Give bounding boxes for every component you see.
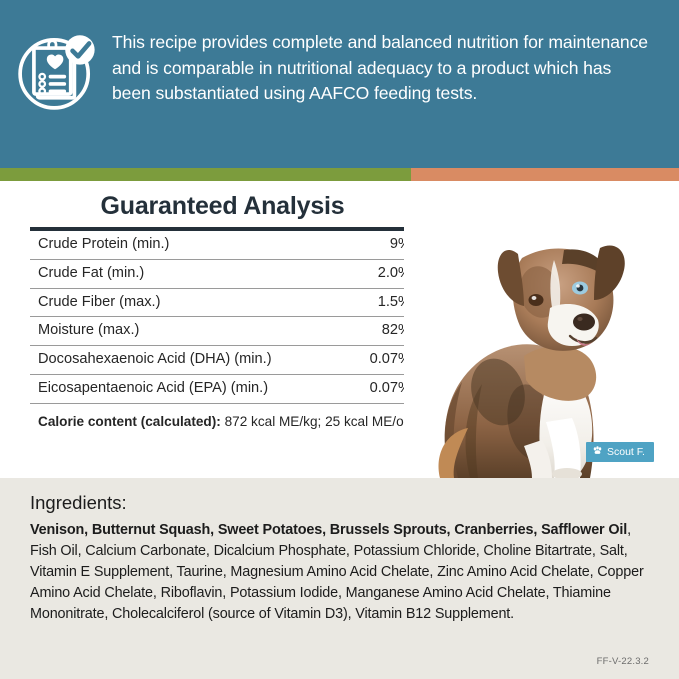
calorie-content-value: 872 kcal ME/kg; 25 kcal ME/oz: [225, 414, 411, 429]
ingredients-list: Venison, Butternut Squash, Sweet Potatoe…: [30, 520, 653, 625]
page-title: Guaranteed Analysis: [30, 192, 415, 221]
nutrient-name: Crude Fat (min.): [30, 259, 346, 288]
table-row: Crude Fiber (max.) 1.5%: [30, 288, 415, 317]
ingredients-panel: Ingredients: Venison, Butternut Squash, …: [0, 478, 679, 679]
dog-photo: [404, 196, 679, 478]
ingredients-primary: Venison, Butternut Squash, Sweet Potatoe…: [30, 522, 627, 538]
table-row: Eicosapentaenoic Acid (EPA) (min.) 0.07%: [30, 374, 415, 403]
ingredients-title: Ingredients:: [30, 492, 653, 514]
clipboard-heart-check-icon: [0, 0, 112, 118]
stripe-segment-green: [0, 168, 411, 181]
calorie-content-line: Calorie content (calculated): 872 kcal M…: [30, 404, 415, 431]
pet-food-label: This recipe provides complete and balanc…: [0, 0, 679, 679]
label-version-code: FF-V-22.3.2: [597, 656, 649, 667]
nutritional-adequacy-statement: This recipe provides complete and balanc…: [112, 0, 679, 107]
nutritional-adequacy-banner: This recipe provides complete and balanc…: [0, 0, 679, 168]
calorie-content-label: Calorie content (calculated):: [38, 414, 221, 429]
pet-name-badge: Scout F.: [586, 442, 654, 462]
nutrient-name: Eicosapentaenoic Acid (EPA) (min.): [30, 374, 346, 403]
table-row: Crude Protein (min.) 9%: [30, 229, 415, 259]
nutrient-name: Moisture (max.): [30, 317, 346, 346]
table-row: Docosahexaenoic Acid (DHA) (min.) 0.07%: [30, 346, 415, 375]
nutrient-name: Crude Protein (min.): [30, 229, 346, 259]
table-row: Moisture (max.) 82%: [30, 317, 415, 346]
stripe-segment-salmon: [411, 168, 679, 181]
guaranteed-analysis-table: Crude Protein (min.) 9% Crude Fat (min.)…: [30, 227, 415, 404]
table-row: Crude Fat (min.) 2.0%: [30, 259, 415, 288]
pet-name-label: Scout F.: [607, 446, 645, 458]
guaranteed-analysis-panel: Guaranteed Analysis Crude Protein (min.)…: [30, 192, 415, 430]
color-stripe-divider: [0, 168, 679, 181]
nutrient-name: Crude Fiber (max.): [30, 288, 346, 317]
paw-print-icon: [592, 445, 603, 459]
nutrient-name: Docosahexaenoic Acid (DHA) (min.): [30, 346, 346, 375]
